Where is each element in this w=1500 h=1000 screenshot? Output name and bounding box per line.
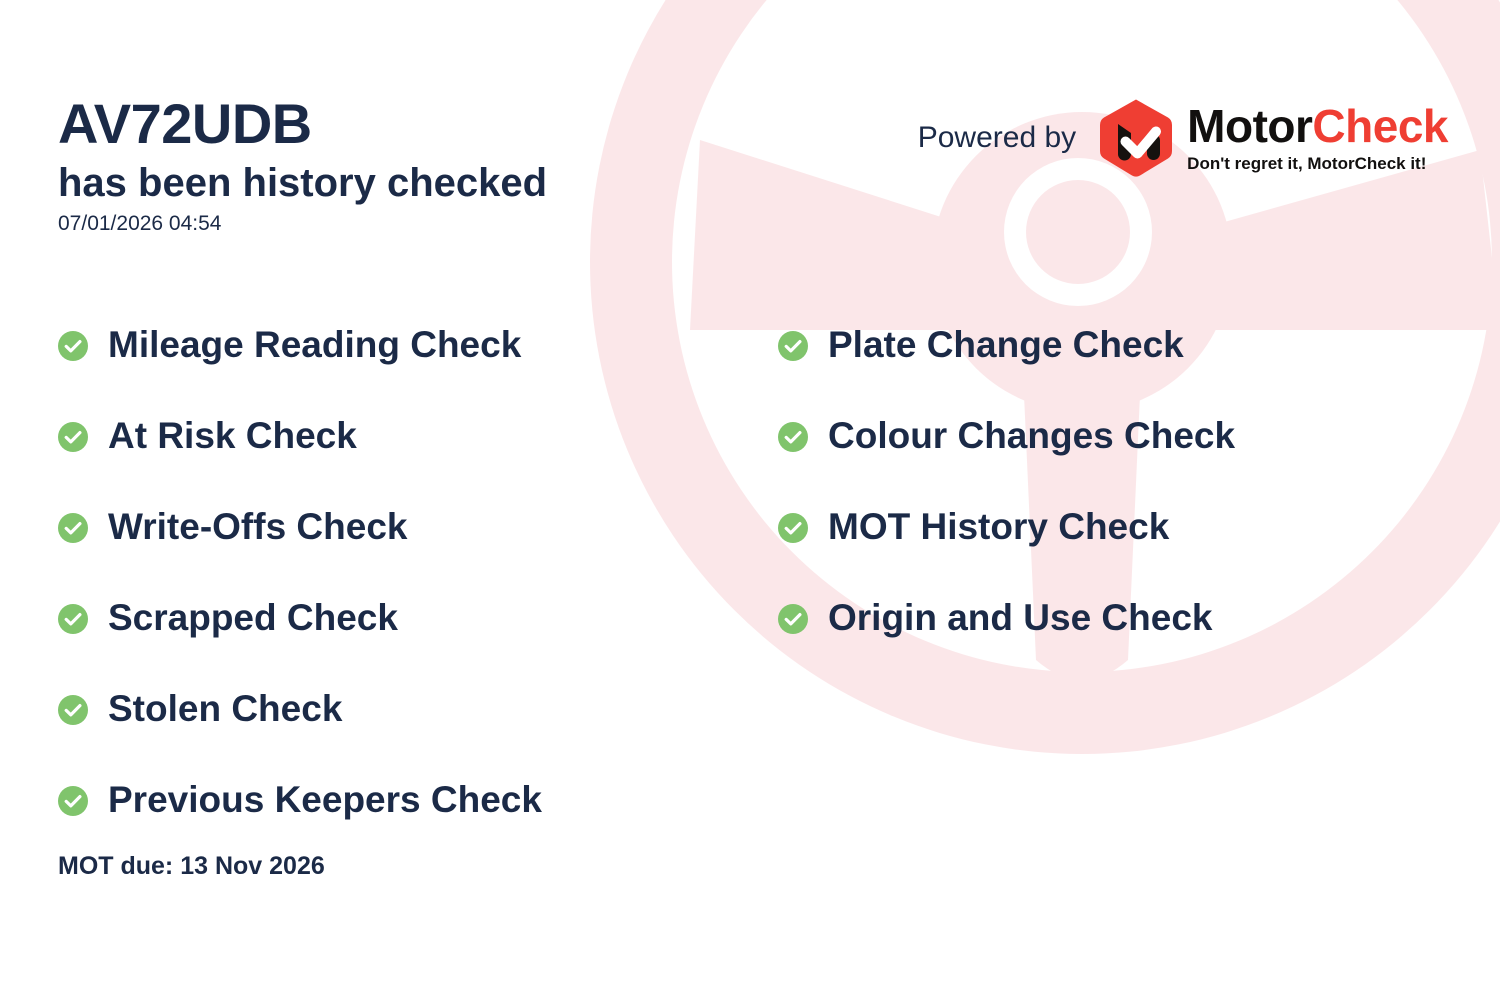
card-content: AV72UDB has been history checked 07/01/2… [0,0,1500,1000]
check-circle-icon [778,513,808,543]
check-circle-icon [778,331,808,361]
check-timestamp: 07/01/2026 04:54 [58,212,758,235]
check-circle-icon [58,604,88,634]
motorcheck-hexagon-logo-icon [1098,98,1174,178]
check-item: Plate Change Check [778,300,1418,391]
motorcheck-wordmark-block: MotorCheck Don't regret it, MotorCheck i… [1187,103,1448,174]
check-item-label: Scrapped Check [108,598,398,639]
checks-column-left: Mileage Reading CheckAt Risk CheckWrite-… [58,300,778,846]
check-item-label: Stolen Check [108,689,342,730]
check-item-label: MOT History Check [828,507,1169,548]
check-item: Colour Changes Check [778,391,1418,482]
checks-column-right: Plate Change CheckColour Changes CheckMO… [778,300,1418,846]
vehicle-history-check-card: AV72UDB has been history checked 07/01/2… [0,0,1500,1000]
check-item-label: Plate Change Check [828,325,1184,366]
check-item-label: At Risk Check [108,416,357,457]
check-item: Previous Keepers Check [58,755,778,846]
check-circle-icon [58,695,88,725]
mot-due-date: MOT due: 13 Nov 2026 [58,852,325,881]
check-item: Write-Offs Check [58,482,778,573]
motorcheck-tagline: Don't regret it, MotorCheck it! [1187,154,1426,174]
page-title: has been history checked [58,162,758,204]
check-item: Origin and Use Check [778,573,1418,664]
check-item: Stolen Check [58,664,778,755]
powered-by-brand-bar: Powered by MotorCheck Don't regret it, M… [918,98,1448,178]
wordmark-motor: Motor [1187,100,1312,152]
motorcheck-logo[interactable]: MotorCheck Don't regret it, MotorCheck i… [1098,98,1448,178]
check-circle-icon [778,422,808,452]
check-circle-icon [58,331,88,361]
registration-number: AV72UDB [58,96,758,152]
check-item: Mileage Reading Check [58,300,778,391]
title-block: AV72UDB has been history checked 07/01/2… [58,96,758,235]
check-item-label: Colour Changes Check [828,416,1235,457]
wordmark-check: Check [1312,100,1448,152]
check-item-label: Mileage Reading Check [108,325,521,366]
check-item-label: Previous Keepers Check [108,780,542,821]
check-circle-icon [58,786,88,816]
check-item-label: Write-Offs Check [108,507,408,548]
check-item-label: Origin and Use Check [828,598,1213,639]
motorcheck-wordmark: MotorCheck [1187,103,1448,149]
check-item: At Risk Check [58,391,778,482]
check-circle-icon [778,604,808,634]
check-item: MOT History Check [778,482,1418,573]
checks-grid: Mileage Reading CheckAt Risk CheckWrite-… [58,300,1448,846]
powered-by-label: Powered by [918,121,1076,155]
check-item: Scrapped Check [58,573,778,664]
check-circle-icon [58,513,88,543]
check-circle-icon [58,422,88,452]
